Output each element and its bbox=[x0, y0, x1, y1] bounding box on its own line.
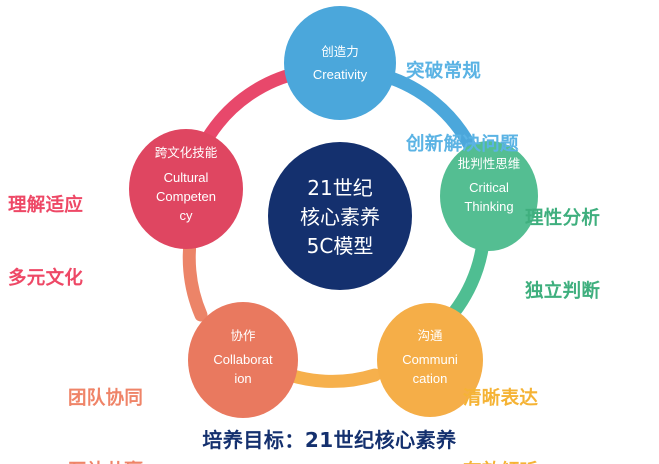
annotation-collaboration-line2: 互补共赢 bbox=[68, 460, 143, 464]
node-communication-cn-label: 沟通 bbox=[417, 328, 443, 343]
center-hub[interactable]: 21世纪 核心素养 5C模型 bbox=[268, 142, 412, 290]
node-collaboration-cn-label: 协作 bbox=[230, 328, 256, 343]
diagram-canvas: 创造力 Creativity 批判性思维 Critical Thinking 沟… bbox=[0, 0, 659, 464]
center-hub-line-1: 21世纪 bbox=[307, 176, 372, 200]
diagram-caption: 培养目标：21世纪核心素养 bbox=[0, 424, 659, 453]
annotation-creativity: 突破常规 创新解决问题 bbox=[406, 11, 519, 206]
annotation-cultural-competency: 理解适应 多元文化 bbox=[8, 145, 83, 340]
node-collaboration[interactable]: 协作 Collaborat ion bbox=[188, 302, 298, 418]
node-cultural-competency-cn-label: 跨文化技能 bbox=[155, 145, 218, 160]
annotation-critical-thinking: 理性分析 独立判断 bbox=[525, 158, 600, 353]
node-communication-en-line2: cation bbox=[413, 371, 448, 386]
node-collaboration-en-line2: ion bbox=[234, 371, 251, 386]
node-creativity-en-label: Creativity bbox=[313, 67, 368, 82]
annotation-creativity-line2: 创新解决问题 bbox=[406, 133, 519, 157]
node-communication-en-line1: Communi bbox=[402, 352, 458, 367]
annotation-communication-line2: 有效倾听 bbox=[463, 460, 538, 464]
node-cultural-competency-en-line1: Cultural bbox=[164, 170, 209, 185]
center-hub-line-3: 5C模型 bbox=[307, 234, 374, 258]
annotation-critical-thinking-line1: 理性分析 bbox=[525, 207, 600, 231]
annotation-critical-thinking-line2: 独立判断 bbox=[525, 280, 600, 304]
node-cultural-competency-en-line2: Competen bbox=[156, 189, 216, 204]
center-hub-line-2: 核心素养 bbox=[300, 205, 380, 229]
node-creativity-circle[interactable] bbox=[284, 6, 396, 120]
node-creativity[interactable]: 创造力 Creativity bbox=[284, 6, 396, 120]
node-collaboration-en-line1: Collaborat bbox=[213, 352, 273, 367]
node-cultural-competency-en-line3: cy bbox=[180, 208, 194, 223]
annotation-creativity-line1: 突破常规 bbox=[406, 60, 519, 84]
node-creativity-cn-label: 创造力 bbox=[321, 44, 359, 59]
annotation-cultural-competency-line1: 理解适应 bbox=[8, 194, 83, 218]
annotation-cultural-competency-line2: 多元文化 bbox=[8, 267, 83, 291]
annotation-collaboration-line1: 团队协同 bbox=[68, 387, 143, 411]
annotation-communication-line1: 清晰表达 bbox=[463, 387, 538, 411]
node-cultural-competency[interactable]: 跨文化技能 Cultural Competen cy bbox=[129, 129, 243, 249]
